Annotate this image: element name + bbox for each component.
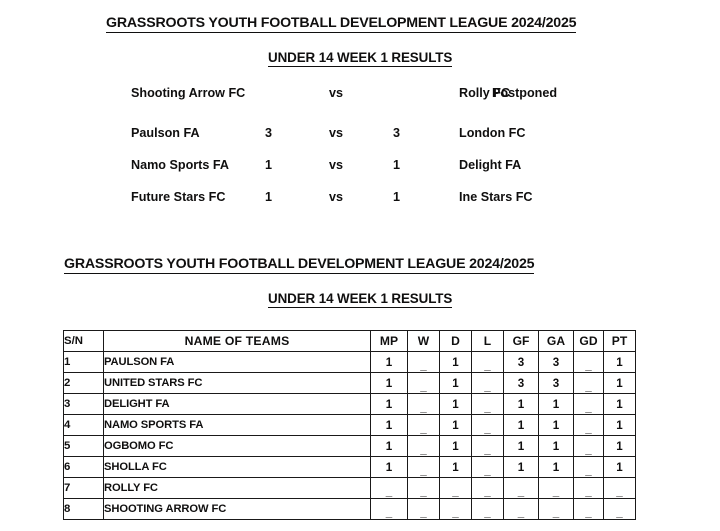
team-position: 7 bbox=[64, 478, 104, 499]
stat-d: 1 bbox=[440, 373, 472, 394]
stat-gd: _ bbox=[574, 457, 604, 478]
stat-pt: _ bbox=[604, 478, 636, 499]
empty-value-dash: _ bbox=[452, 507, 458, 519]
team-position: 2 bbox=[64, 373, 104, 394]
stat-l: _ bbox=[472, 415, 504, 436]
stat-mp: 1 bbox=[371, 436, 408, 457]
stat-ga: 3 bbox=[539, 373, 574, 394]
empty-value-dash: _ bbox=[585, 444, 591, 456]
results-subtitle: UNDER 14 WEEK 1 RESULTS bbox=[268, 50, 452, 67]
team-name: DELIGHT FA bbox=[104, 394, 371, 415]
team-position: 1 bbox=[64, 352, 104, 373]
empty-value-dash: _ bbox=[420, 486, 426, 498]
stat-pt: 1 bbox=[604, 457, 636, 478]
stat-gf: 1 bbox=[504, 457, 539, 478]
team-position: 3 bbox=[64, 394, 104, 415]
empty-value-dash: _ bbox=[585, 465, 591, 477]
empty-value-dash: _ bbox=[420, 381, 426, 393]
team-name: UNITED STARS FC bbox=[104, 373, 371, 394]
empty-value-dash: _ bbox=[585, 486, 591, 498]
fixture-home-team: Namo Sports FA bbox=[131, 158, 229, 172]
stat-w: _ bbox=[408, 415, 440, 436]
table-header: S/N NAME OF TEAMS MP W D L GF GA GD PT bbox=[64, 331, 636, 352]
team-position: 6 bbox=[64, 457, 104, 478]
fixture-away-score: 3 bbox=[393, 126, 400, 140]
stat-gd: _ bbox=[574, 352, 604, 373]
stat-w: _ bbox=[408, 478, 440, 499]
stat-mp: 1 bbox=[371, 352, 408, 373]
fixture-vs-label: vs bbox=[329, 86, 343, 100]
empty-value-dash: _ bbox=[616, 507, 622, 519]
column-header-w: W bbox=[408, 331, 440, 352]
empty-value-dash: _ bbox=[553, 507, 559, 519]
column-header-mp: MP bbox=[371, 331, 408, 352]
stat-l: _ bbox=[472, 478, 504, 499]
stat-pt: 1 bbox=[604, 394, 636, 415]
empty-value-dash: _ bbox=[484, 402, 490, 414]
stat-d: _ bbox=[440, 478, 472, 499]
stat-ga: 1 bbox=[539, 457, 574, 478]
fixture-home-team: Shooting Arrow FC bbox=[131, 86, 245, 100]
stat-pt: 1 bbox=[604, 436, 636, 457]
table-row: 2UNITED STARS FC1_1_33_1 bbox=[64, 373, 636, 394]
table-row: 6SHOLLA FC1_1_11_1 bbox=[64, 457, 636, 478]
stat-l: _ bbox=[472, 457, 504, 478]
empty-value-dash: _ bbox=[420, 402, 426, 414]
stat-gd: _ bbox=[574, 415, 604, 436]
standings-title-text: GRASSROOTS YOUTH FOOTBALL DEVELOPMENT LE… bbox=[64, 256, 534, 274]
stat-l: _ bbox=[472, 352, 504, 373]
team-position: 5 bbox=[64, 436, 104, 457]
fixture-row: Future Stars FC1vs1Ine Stars FC bbox=[0, 190, 720, 222]
standings-subtitle-text: UNDER 14 WEEK 1 RESULTS bbox=[268, 291, 452, 308]
fixture-away-team: Ine Stars FC bbox=[459, 190, 532, 204]
team-name: NAMO SPORTS FA bbox=[104, 415, 371, 436]
fixture-away-team: Delight FA bbox=[459, 158, 521, 172]
stat-d: 1 bbox=[440, 436, 472, 457]
empty-value-dash: _ bbox=[585, 423, 591, 435]
results-title-text: GRASSROOTS YOUTH FOOTBALL DEVELOPMENT LE… bbox=[106, 15, 576, 33]
stat-gd: _ bbox=[574, 394, 604, 415]
empty-value-dash: _ bbox=[484, 465, 490, 477]
fixture-vs-label: vs bbox=[329, 190, 343, 204]
fixture-status: Postponed bbox=[492, 86, 557, 100]
stat-w: _ bbox=[408, 352, 440, 373]
stat-mp: 1 bbox=[371, 457, 408, 478]
table-body: 1PAULSON FA1_1_33_12UNITED STARS FC1_1_3… bbox=[64, 352, 636, 520]
stat-l: _ bbox=[472, 499, 504, 520]
stat-gd: _ bbox=[574, 436, 604, 457]
fixture-away-team: London FC bbox=[459, 126, 525, 140]
standings-subtitle: UNDER 14 WEEK 1 RESULTS bbox=[268, 291, 452, 308]
stat-d: 1 bbox=[440, 352, 472, 373]
stat-gf: 1 bbox=[504, 436, 539, 457]
fixture-home-team: Future Stars FC bbox=[131, 190, 225, 204]
column-header-pt: PT bbox=[604, 331, 636, 352]
stat-mp: 1 bbox=[371, 415, 408, 436]
empty-value-dash: _ bbox=[420, 423, 426, 435]
fixture-home-score: 3 bbox=[265, 126, 272, 140]
stat-d: 1 bbox=[440, 457, 472, 478]
column-header-d: D bbox=[440, 331, 472, 352]
stat-pt: 1 bbox=[604, 373, 636, 394]
stat-l: _ bbox=[472, 394, 504, 415]
stat-mp: _ bbox=[371, 499, 408, 520]
fixture-vs-label: vs bbox=[329, 126, 343, 140]
fixture-row: Paulson FA3vs3London FC bbox=[0, 126, 720, 158]
stat-l: _ bbox=[472, 436, 504, 457]
table-header-row: S/N NAME OF TEAMS MP W D L GF GA GD PT bbox=[64, 331, 636, 352]
empty-value-dash: _ bbox=[452, 486, 458, 498]
empty-value-dash: _ bbox=[585, 507, 591, 519]
empty-value-dash: _ bbox=[553, 486, 559, 498]
team-position: 4 bbox=[64, 415, 104, 436]
stat-gf: _ bbox=[504, 499, 539, 520]
fixture-row: Namo Sports FA1vs1Delight FA bbox=[0, 158, 720, 190]
stat-d: _ bbox=[440, 499, 472, 520]
stat-ga: 1 bbox=[539, 415, 574, 436]
team-position: 8 bbox=[64, 499, 104, 520]
empty-value-dash: _ bbox=[420, 444, 426, 456]
stat-gf: _ bbox=[504, 478, 539, 499]
table-row: 1PAULSON FA1_1_33_1 bbox=[64, 352, 636, 373]
empty-value-dash: _ bbox=[585, 381, 591, 393]
results-subtitle-text: UNDER 14 WEEK 1 RESULTS bbox=[268, 50, 452, 67]
stat-d: 1 bbox=[440, 394, 472, 415]
stat-gd: _ bbox=[574, 499, 604, 520]
column-header-gd: GD bbox=[574, 331, 604, 352]
empty-value-dash: _ bbox=[484, 444, 490, 456]
league-standings-table: S/N NAME OF TEAMS MP W D L GF GA GD PT 1… bbox=[63, 330, 636, 520]
column-header-gf: GF bbox=[504, 331, 539, 352]
stat-ga: 3 bbox=[539, 352, 574, 373]
stat-w: _ bbox=[408, 394, 440, 415]
empty-value-dash: _ bbox=[518, 507, 524, 519]
stat-gf: 1 bbox=[504, 415, 539, 436]
fixture-row: Shooting Arrow FCvsRolly FCPostponed bbox=[0, 86, 720, 126]
empty-value-dash: _ bbox=[484, 507, 490, 519]
team-name: ROLLY FC bbox=[104, 478, 371, 499]
empty-value-dash: _ bbox=[616, 486, 622, 498]
stat-ga: _ bbox=[539, 499, 574, 520]
fixture-home-team: Paulson FA bbox=[131, 126, 200, 140]
empty-value-dash: _ bbox=[585, 360, 591, 372]
empty-value-dash: _ bbox=[585, 402, 591, 414]
standings-title: GRASSROOTS YOUTH FOOTBALL DEVELOPMENT LE… bbox=[64, 256, 534, 274]
fixture-away-score: 1 bbox=[393, 158, 400, 172]
stat-ga: 1 bbox=[539, 394, 574, 415]
empty-value-dash: _ bbox=[484, 381, 490, 393]
fixture-vs-label: vs bbox=[329, 158, 343, 172]
stat-gf: 3 bbox=[504, 352, 539, 373]
empty-value-dash: _ bbox=[386, 486, 392, 498]
team-name: PAULSON FA bbox=[104, 352, 371, 373]
stat-gd: _ bbox=[574, 373, 604, 394]
column-header-sn: S/N bbox=[64, 331, 104, 352]
stat-pt: _ bbox=[604, 499, 636, 520]
stat-mp: _ bbox=[371, 478, 408, 499]
table-row: 5OGBOMO FC1_1_11_1 bbox=[64, 436, 636, 457]
results-title: GRASSROOTS YOUTH FOOTBALL DEVELOPMENT LE… bbox=[106, 15, 576, 33]
stat-w: _ bbox=[408, 436, 440, 457]
stat-gd: _ bbox=[574, 478, 604, 499]
stat-w: _ bbox=[408, 373, 440, 394]
empty-value-dash: _ bbox=[420, 465, 426, 477]
stat-d: 1 bbox=[440, 415, 472, 436]
stat-pt: 1 bbox=[604, 415, 636, 436]
stat-w: _ bbox=[408, 499, 440, 520]
stat-mp: 1 bbox=[371, 373, 408, 394]
table-row: 3DELIGHT FA1_1_11_1 bbox=[64, 394, 636, 415]
empty-value-dash: _ bbox=[484, 486, 490, 498]
empty-value-dash: _ bbox=[420, 360, 426, 372]
stat-ga: 1 bbox=[539, 436, 574, 457]
column-header-ga: GA bbox=[539, 331, 574, 352]
empty-value-dash: _ bbox=[484, 423, 490, 435]
stat-mp: 1 bbox=[371, 394, 408, 415]
fixture-home-score: 1 bbox=[265, 158, 272, 172]
team-name: OGBOMO FC bbox=[104, 436, 371, 457]
stat-ga: _ bbox=[539, 478, 574, 499]
empty-value-dash: _ bbox=[386, 507, 392, 519]
stat-w: _ bbox=[408, 457, 440, 478]
fixtures-list: Shooting Arrow FCvsRolly FCPostponedPaul… bbox=[0, 86, 720, 222]
team-name: SHOLLA FC bbox=[104, 457, 371, 478]
fixture-home-score: 1 bbox=[265, 190, 272, 204]
empty-value-dash: _ bbox=[518, 486, 524, 498]
empty-value-dash: _ bbox=[484, 360, 490, 372]
stat-gf: 3 bbox=[504, 373, 539, 394]
table-row: 8SHOOTING ARROW FC________ bbox=[64, 499, 636, 520]
table-row: 7ROLLY FC________ bbox=[64, 478, 636, 499]
document-page: GRASSROOTS YOUTH FOOTBALL DEVELOPMENT LE… bbox=[0, 0, 720, 531]
fixture-away-score: 1 bbox=[393, 190, 400, 204]
stat-l: _ bbox=[472, 373, 504, 394]
column-header-name: NAME OF TEAMS bbox=[104, 331, 371, 352]
table-row: 4NAMO SPORTS FA1_1_11_1 bbox=[64, 415, 636, 436]
stat-gf: 1 bbox=[504, 394, 539, 415]
team-name: SHOOTING ARROW FC bbox=[104, 499, 371, 520]
empty-value-dash: _ bbox=[420, 507, 426, 519]
stat-pt: 1 bbox=[604, 352, 636, 373]
column-header-l: L bbox=[472, 331, 504, 352]
